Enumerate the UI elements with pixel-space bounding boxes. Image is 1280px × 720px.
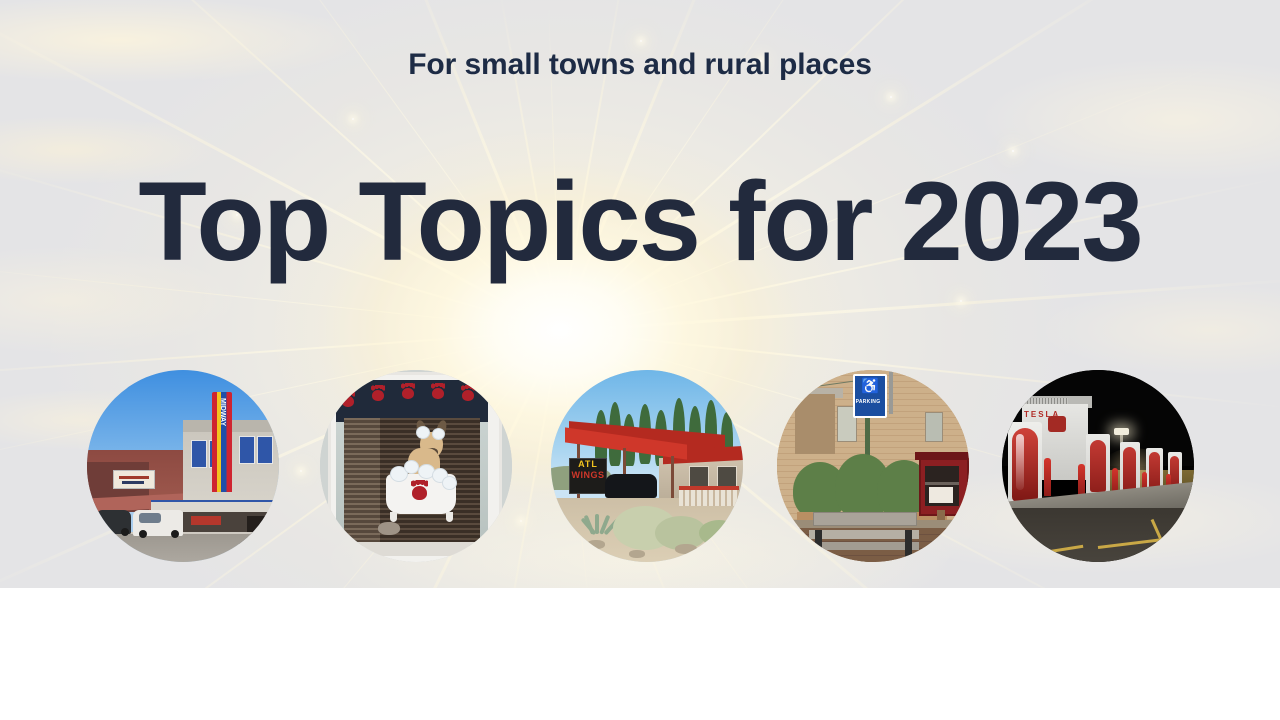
paw-print-icon (432, 388, 444, 399)
street-lamp (1114, 428, 1129, 435)
slide-subtitle: For small towns and rural places (0, 48, 1280, 82)
photo-strip: MIDWAY (0, 370, 1280, 566)
photo-accessible-parking-bench: ♿ PARKING (777, 370, 969, 562)
hero-band: For small towns and rural places Top Top… (0, 0, 1280, 588)
bollard (1044, 458, 1051, 498)
paw-print-icon (462, 390, 474, 401)
parked-car (605, 474, 657, 498)
restaurant-sign: ATL WINGS (569, 458, 607, 494)
footer-band: Not the same old trends! LearnTo. SAVE Y… (0, 588, 1280, 720)
dog-grooming-window-scene (320, 370, 512, 562)
supercharger-night-scene: TESLA (1002, 370, 1194, 562)
photo-tesla-superchargers: TESLA (1002, 370, 1194, 562)
midway-theater-scene: MIDWAY (87, 370, 279, 562)
photo-midway-theater: MIDWAY (87, 370, 279, 562)
restaurant-sign-line1: ATL (570, 459, 606, 470)
paw-print-icon (342, 396, 354, 407)
slide-title: Top Topics for 2023 (0, 163, 1280, 281)
restaurant-sign-line2: WINGS (570, 470, 606, 481)
atl-wings-restaurant-scene: ATL WINGS (551, 370, 743, 562)
bench-seat (809, 530, 919, 539)
slide-canvas: For small towns and rural places Top Top… (0, 0, 1280, 720)
parking-sign-text: PARKING (854, 399, 882, 405)
agave-plant (575, 506, 617, 534)
wheelchair-icon: ♿ (861, 379, 876, 396)
bench-backrest (813, 512, 917, 526)
photo-atl-wings-restaurant: ATL WINGS (551, 370, 743, 562)
tub-paw-print-icon (412, 486, 427, 500)
marquee-text: MIDWAY (217, 398, 227, 426)
storefront-sign-small (113, 470, 155, 489)
photo-dog-grooming-window (320, 370, 512, 562)
paw-print-icon (372, 390, 384, 401)
desert-shrub (699, 520, 739, 546)
paw-print-icon (402, 388, 414, 399)
accessible-parking-scene: ♿ PARKING (777, 370, 969, 562)
